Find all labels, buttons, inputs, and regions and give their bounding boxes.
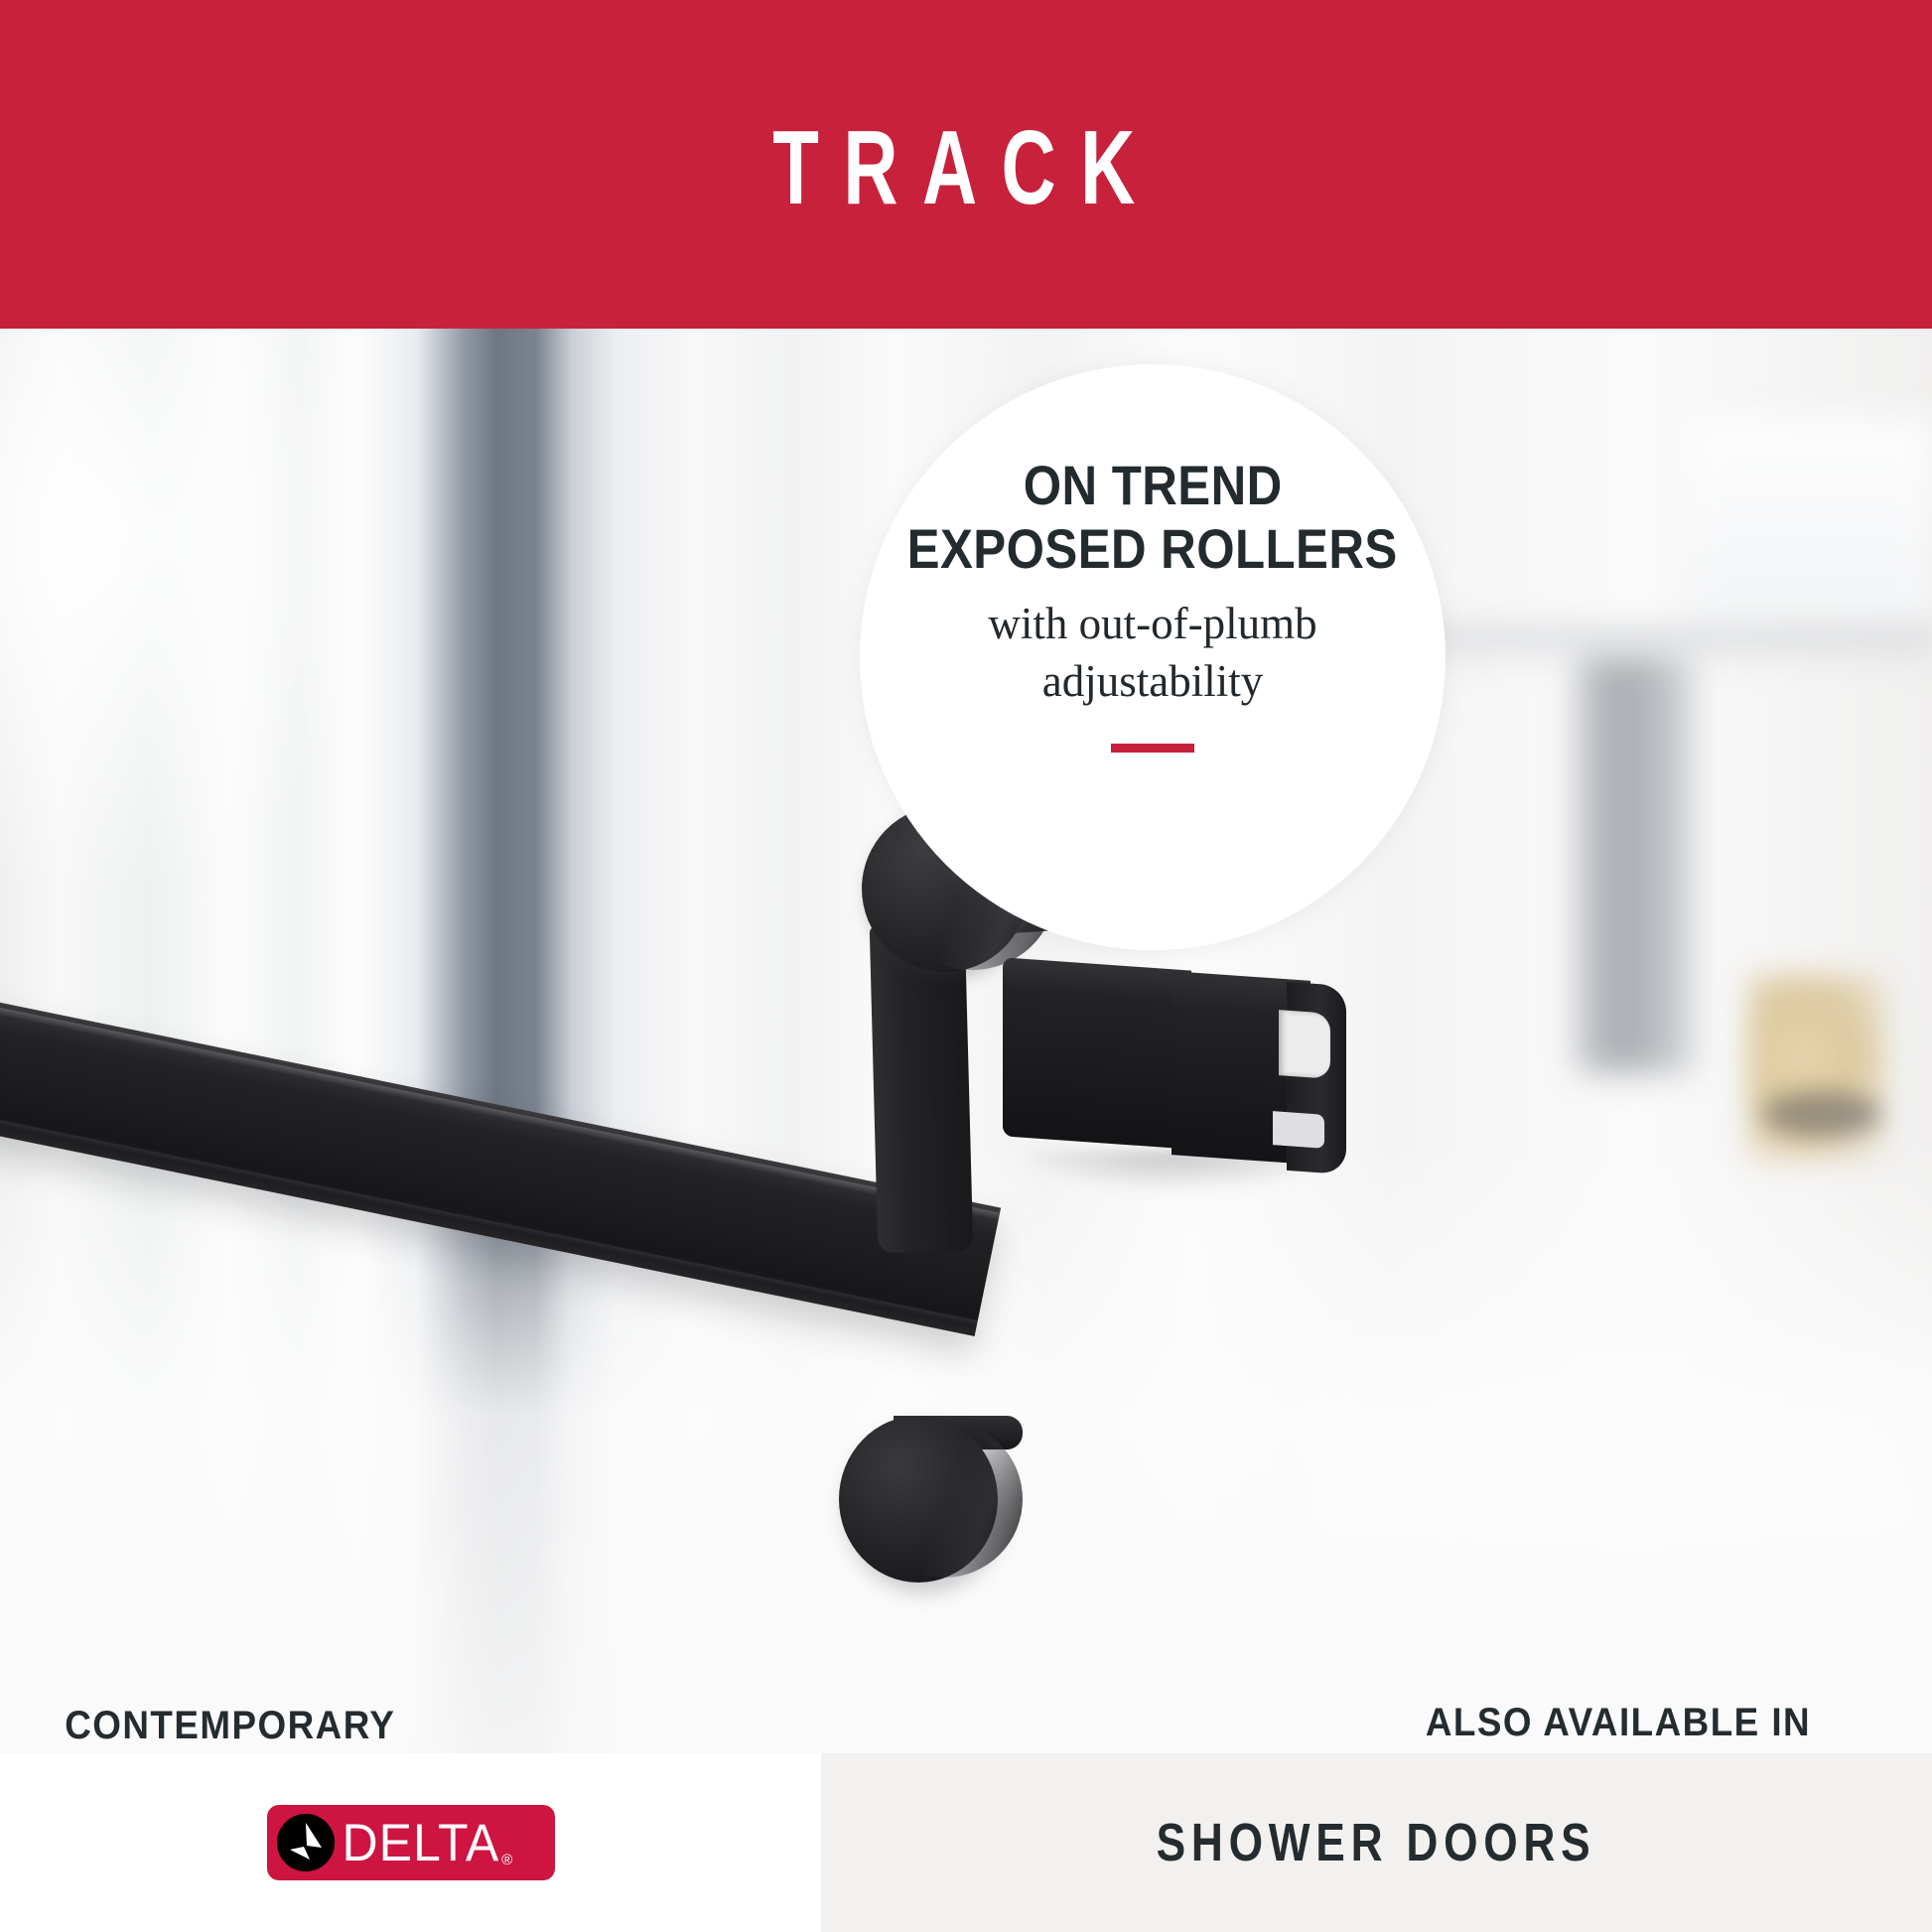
callout-headline-line2: EXPOSED ROLLERS xyxy=(907,519,1398,579)
track-channel-profile xyxy=(1003,957,1191,1149)
delta-triangle-icon xyxy=(277,1814,335,1871)
track-channel-notch-upper xyxy=(1279,1010,1330,1079)
footer-bar: DELTA ® SHOWER DOORS xyxy=(0,1753,1932,1932)
delta-logo[interactable]: DELTA ® xyxy=(267,1805,555,1880)
finishes-title: ALSO AVAILABLE IN xyxy=(1344,1701,1892,1745)
registered-mark: ® xyxy=(501,1852,512,1868)
footer-category-label: SHOWER DOORS xyxy=(1157,1812,1596,1873)
callout-headline-line1: ON TREND xyxy=(1024,456,1283,515)
roller-disc-lower-edge xyxy=(866,1421,1023,1578)
available-finishes: ALSO AVAILABLE IN CHROME BRUSHED NICKEL … xyxy=(1320,1701,1916,1753)
page-title: TRACK xyxy=(270,115,1661,220)
footer-category-panel: SHOWER DOORS xyxy=(821,1753,1932,1932)
track-rail xyxy=(0,897,1001,1336)
feature-callout-circle: ON TREND EXPOSED ROLLERS with out-of-plu… xyxy=(860,364,1446,950)
product-caption: CONTEMPORARY TRACK IN MATTE BLACK xyxy=(65,1701,366,1753)
callout-red-rule xyxy=(1111,744,1194,753)
header-bar: TRACK xyxy=(0,0,1932,329)
footer-brand-panel: DELTA ® xyxy=(0,1753,821,1932)
roller-bracket-plate xyxy=(870,923,974,1253)
product-photo: ON TREND EXPOSED ROLLERS with out-of-plu… xyxy=(0,329,1932,1753)
delta-wordmark: DELTA xyxy=(343,1817,500,1869)
callout-subtitle: with out-of-plumb adjustability xyxy=(934,596,1371,710)
track-channel-notch-lower xyxy=(1273,1111,1324,1149)
marketing-banner: TRACK ON TRE xyxy=(0,0,1932,1932)
